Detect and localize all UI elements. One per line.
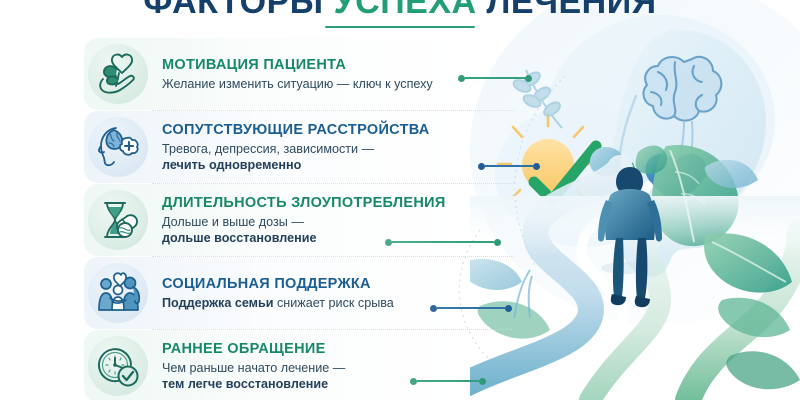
list-item-subtext: Чем раньше начато лечение — тем легче во… (162, 360, 504, 392)
list-item-heading: ДЛИТЕЛЬНОСТЬ ЗЛОУПОТРЕБЛЕНИЯ (162, 194, 504, 212)
subtext-line-2-bold: лечить одновременно (162, 157, 504, 173)
list-item-heading: МОТИВАЦИЯ ПАЦИЕНТА (162, 56, 504, 74)
subtext-line-1: Желание изменить ситуацию — ключ к успех… (162, 77, 433, 91)
infographic-canvas: ФАКТОРЫ УСПЕХА ЛЕЧЕНИЯ МО (0, 0, 800, 400)
list-item-text: СОПУТСТВУЮЩИЕ РАССТРОЙСТВА Тревога, депр… (162, 121, 504, 173)
list-item-heading: СОЦИАЛЬНАЯ ПОДДЕРЖКА (162, 275, 504, 293)
list-item-heading: СОПУТСТВУЮЩИЕ РАССТРОЙСТВА (162, 121, 504, 139)
list-item-subtext: Поддержка семьи снижает риск срыва (162, 295, 504, 311)
title-part-3: ЛЕЧЕНИЯ (487, 0, 657, 21)
subtext-line-1: снижает риск срыва (273, 296, 393, 310)
subtext-bold-lead: Поддержка семьи (162, 296, 273, 310)
recovery-path-illustration (470, 0, 800, 400)
list-item-early-treatment[interactable]: РАННЕЕ ОБРАЩЕНИЕ Чем раньше начато лечен… (84, 330, 504, 400)
hourglass-pill-icon (88, 190, 148, 250)
family-heart-icon (88, 263, 148, 323)
list-item-duration[interactable]: ДЛИТЕЛЬНОСТЬ ЗЛОУПОТРЕБЛЕНИЯ Дольше и вы… (84, 184, 504, 256)
subtext-line-2-bold: тем легче восстановление (162, 376, 504, 392)
list-item-text: МОТИВАЦИЯ ПАЦИЕНТА Желание изменить ситу… (162, 56, 504, 92)
list-item-comorbidities[interactable]: СОПУТСТВУЮЩИЕ РАССТРОЙСТВА Тревога, депр… (84, 111, 504, 183)
list-item-text: РАННЕЕ ОБРАЩЕНИЕ Чем раньше начато лечен… (162, 340, 504, 392)
factors-list: МОТИВАЦИЯ ПАЦИЕНТА Желание изменить ситу… (84, 38, 504, 400)
connector-dot-end (533, 163, 540, 170)
list-item-subtext: Дольше и выше дозы — дольше восстановлен… (162, 214, 504, 246)
title-part-1: ФАКТОРЫ (143, 0, 323, 21)
head-brain-plus-icon (88, 117, 148, 177)
list-item-heading: РАННЕЕ ОБРАЩЕНИЕ (162, 340, 504, 358)
list-item-subtext: Тревога, депрессия, зависимости — лечить… (162, 141, 504, 173)
connector-dot-end (505, 305, 512, 312)
list-item-motivation[interactable]: МОТИВАЦИЯ ПАЦИЕНТА Желание изменить ситу… (84, 38, 504, 110)
list-item-social-support[interactable]: СОЦИАЛЬНАЯ ПОДДЕРЖКА Поддержка семьи сни… (84, 257, 504, 329)
subtext-line-2-bold: дольше восстановление (162, 230, 504, 246)
page-title: ФАКТОРЫ УСПЕХА ЛЕЧЕНИЯ (0, 0, 800, 22)
connector-dot-end (525, 75, 532, 82)
clock-check-icon (88, 336, 148, 396)
list-item-text: СОЦИАЛЬНАЯ ПОДДЕРЖКА Поддержка семьи сни… (162, 275, 504, 311)
list-item-subtext: Желание изменить ситуацию — ключ к успех… (162, 76, 504, 92)
subtext-line-1: Тревога, депрессия, зависимости — (162, 142, 374, 156)
subtext-line-1: Чем раньше начато лечение — (162, 361, 345, 375)
title-part-2: УСПЕХА (334, 0, 477, 21)
hand-holding-plant-heart-icon (88, 44, 148, 104)
title-underline (325, 26, 475, 28)
subtext-line-1: Дольше и выше дозы — (162, 215, 304, 229)
list-item-text: ДЛИТЕЛЬНОСТЬ ЗЛОУПОТРЕБЛЕНИЯ Дольше и вы… (162, 194, 504, 246)
